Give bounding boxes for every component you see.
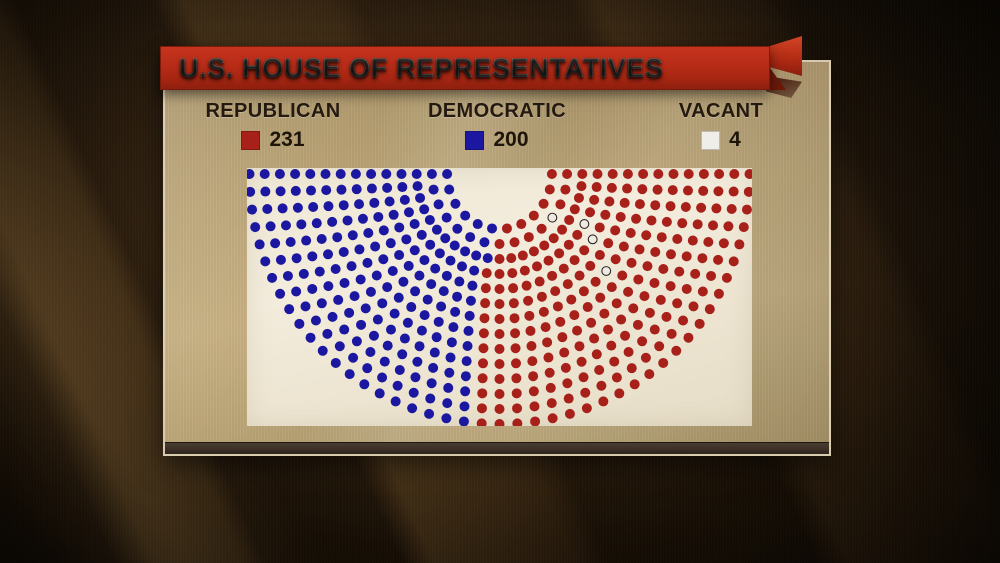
seat-dot-republican xyxy=(479,328,489,338)
seat-dot-republican xyxy=(650,247,660,257)
seat-dot-republican xyxy=(550,286,560,296)
seat-dot-republican xyxy=(549,233,559,243)
seat-dot-democratic xyxy=(260,169,270,179)
seat-dot-republican xyxy=(653,169,663,179)
seat-dot-republican xyxy=(661,312,671,322)
seat-dot-democratic xyxy=(473,219,483,229)
seat-dot-vacant xyxy=(580,220,589,229)
seat-dot-republican xyxy=(574,341,584,351)
seat-dot-republican xyxy=(516,219,526,229)
seat-dot-democratic xyxy=(286,237,296,247)
seat-dot-democratic xyxy=(460,246,470,256)
seat-dot-democratic xyxy=(439,286,449,296)
seat-dot-democratic xyxy=(410,219,420,229)
seat-dot-republican xyxy=(495,284,505,294)
seat-dot-republican xyxy=(696,203,706,213)
seat-dot-republican xyxy=(565,409,575,419)
seat-dot-democratic xyxy=(247,205,257,215)
seat-dot-republican xyxy=(742,205,752,215)
seat-dot-republican xyxy=(620,198,630,208)
seat-dot-democratic xyxy=(403,318,413,328)
seat-dot-republican xyxy=(478,343,488,353)
seat-dot-democratic xyxy=(434,199,444,209)
seat-dot-democratic xyxy=(389,210,399,220)
seat-dot-democratic xyxy=(463,341,473,351)
seat-dot-democratic xyxy=(465,232,475,242)
seat-dot-democratic xyxy=(352,336,362,346)
seat-dot-democratic xyxy=(276,255,286,265)
seat-dot-democratic xyxy=(345,369,355,379)
seat-dot-republican xyxy=(598,396,608,406)
seat-dot-democratic xyxy=(318,346,328,356)
seat-dot-republican xyxy=(530,401,540,411)
seat-dot-republican xyxy=(633,320,643,330)
seat-dot-democratic xyxy=(327,217,337,227)
seat-dot-republican xyxy=(603,238,613,248)
seat-dot-democratic xyxy=(335,341,345,351)
seat-dot-republican xyxy=(593,169,603,179)
seat-dot-republican xyxy=(617,271,627,281)
seat-dot-republican xyxy=(511,373,521,383)
seat-dot-republican xyxy=(610,225,620,235)
seat-dot-republican xyxy=(628,303,638,313)
seat-dot-democratic xyxy=(296,219,306,229)
seat-dot-democratic xyxy=(307,284,317,294)
seat-dot-democratic xyxy=(377,373,387,383)
seat-dot-republican xyxy=(532,261,542,271)
seat-dot-republican xyxy=(607,183,617,193)
seat-dot-republican xyxy=(612,298,622,308)
seat-dot-republican xyxy=(520,266,530,276)
seat-dot-republican xyxy=(682,284,692,294)
seat-dot-republican xyxy=(589,195,599,205)
seat-dot-democratic xyxy=(460,401,470,411)
seat-dot-republican xyxy=(482,268,492,278)
seat-dot-republican xyxy=(729,187,739,197)
seat-dot-republican xyxy=(662,217,672,227)
seat-dot-democratic xyxy=(344,308,354,318)
legend-value-row-republican: 231 xyxy=(180,128,366,152)
seat-dot-democratic xyxy=(404,207,414,217)
seat-dot-republican xyxy=(607,282,617,292)
seat-dot-democratic xyxy=(323,281,333,291)
seat-dot-democratic xyxy=(323,249,333,259)
seat-dot-democratic xyxy=(317,298,327,308)
seat-dot-democratic xyxy=(377,298,387,308)
seat-dot-democratic xyxy=(400,195,410,205)
seat-dot-democratic xyxy=(394,250,404,260)
seat-dot-democratic xyxy=(414,271,424,281)
seat-dot-republican xyxy=(579,372,589,382)
seat-dot-republican xyxy=(545,185,555,195)
seat-dot-democratic xyxy=(366,287,376,297)
seat-dot-republican xyxy=(559,264,569,274)
seat-dot-democratic xyxy=(393,381,403,391)
seat-dot-republican xyxy=(729,169,739,179)
seat-dot-democratic xyxy=(469,266,479,276)
seat-dot-republican xyxy=(644,369,654,379)
seat-dot-republican xyxy=(495,419,505,426)
seat-dot-republican xyxy=(557,332,567,342)
seat-dot-democratic xyxy=(339,325,349,335)
seat-dot-democratic xyxy=(460,211,470,221)
seat-dot-republican xyxy=(699,169,709,179)
seat-chart xyxy=(247,168,752,426)
seat-dot-democratic xyxy=(275,289,285,299)
seat-dot-democratic xyxy=(306,333,316,343)
seat-dot-republican xyxy=(592,182,602,192)
seat-dot-democratic xyxy=(351,169,361,179)
seat-dot-republican xyxy=(654,341,664,351)
seat-dot-republican xyxy=(523,296,533,306)
seat-dot-republican xyxy=(563,279,573,289)
seat-dot-democratic xyxy=(250,222,260,232)
seat-dot-republican xyxy=(658,264,668,274)
seat-dot-democratic xyxy=(425,215,435,225)
seat-dot-democratic xyxy=(397,182,407,192)
seat-dot-democratic xyxy=(375,388,385,398)
seat-dot-democratic xyxy=(363,228,373,238)
seat-dot-democratic xyxy=(436,301,446,311)
seat-dot-democratic xyxy=(429,185,439,195)
seat-dot-republican xyxy=(595,222,605,232)
seat-dot-republican xyxy=(512,418,522,426)
seat-dot-democratic xyxy=(321,169,331,179)
seat-dot-republican xyxy=(495,239,505,249)
legend-count-republican: 231 xyxy=(269,128,304,152)
seat-dot-republican xyxy=(512,403,522,413)
seat-dot-republican xyxy=(656,295,666,305)
seat-dot-democratic xyxy=(348,353,358,363)
seat-dot-republican xyxy=(553,301,563,311)
seat-dot-republican xyxy=(502,223,512,233)
seat-dot-republican xyxy=(624,347,634,357)
seat-dot-democratic xyxy=(317,234,327,244)
seat-dot-democratic xyxy=(247,187,255,197)
seat-dot-republican xyxy=(606,341,616,351)
seat-dot-democratic xyxy=(366,169,376,179)
legend: REPUBLICAN 231 DEMOCRATIC 200 VACANT 4 xyxy=(163,100,831,152)
seat-dot-republican xyxy=(609,357,619,367)
seat-dot-republican xyxy=(653,185,663,195)
seat-dot-republican xyxy=(592,349,602,359)
seat-dot-republican xyxy=(575,271,585,281)
seat-dot-democratic xyxy=(369,198,379,208)
seat-dot-republican xyxy=(666,249,676,259)
seat-dot-republican xyxy=(527,356,537,366)
seat-dot-democratic xyxy=(343,215,353,225)
seat-dot-democratic xyxy=(410,286,420,296)
seat-dot-democratic xyxy=(315,267,325,277)
seat-dot-democratic xyxy=(462,356,472,366)
seat-dot-republican xyxy=(635,199,645,209)
seat-dot-republican xyxy=(603,325,613,335)
seat-dot-democratic xyxy=(347,261,357,271)
seat-dot-democratic xyxy=(255,239,265,249)
seat-dot-democratic xyxy=(388,266,398,276)
seat-dot-republican xyxy=(511,343,521,353)
seat-dot-democratic xyxy=(419,204,429,214)
legend-label-vacant: VACANT xyxy=(628,100,814,123)
seat-dot-democratic xyxy=(460,386,470,396)
seat-dot-republican xyxy=(596,381,606,391)
seat-dot-republican xyxy=(668,185,678,195)
seat-dot-democratic xyxy=(339,200,349,210)
seat-dot-democratic xyxy=(293,203,303,213)
seat-dot-republican xyxy=(495,254,505,264)
broadcast-graphic: U.S. HOUSE OF REPRESENTATIVES REPUBLICAN… xyxy=(0,0,1000,563)
seat-dot-republican xyxy=(727,204,737,214)
seat-dot-republican xyxy=(511,358,521,368)
seat-dot-democratic xyxy=(306,186,316,196)
seat-dot-democratic xyxy=(457,261,467,271)
seat-dot-republican xyxy=(616,315,626,325)
seat-dot-republican xyxy=(529,246,539,256)
seat-dot-republican xyxy=(630,379,640,389)
seat-dot-democratic xyxy=(407,403,417,413)
seat-dot-democratic xyxy=(383,341,393,351)
seat-dot-democratic xyxy=(382,183,392,193)
seat-dot-republican xyxy=(572,230,582,240)
seat-dot-republican xyxy=(535,277,545,287)
seat-dot-republican xyxy=(633,274,643,284)
seat-dot-republican xyxy=(666,201,676,211)
seat-dot-democratic xyxy=(410,372,420,382)
seat-dot-democratic xyxy=(278,203,288,213)
seat-dot-democratic xyxy=(391,396,401,406)
seat-dot-democratic xyxy=(413,181,423,191)
seat-dot-democratic xyxy=(386,238,396,248)
seat-dot-republican xyxy=(477,388,487,398)
seat-dot-democratic xyxy=(395,365,405,375)
title-banner-body: U.S. HOUSE OF REPRESENTATIVES xyxy=(160,46,770,90)
seat-dot-democratic xyxy=(323,201,333,211)
seat-dot-democratic xyxy=(356,274,366,284)
seat-dot-democratic xyxy=(420,310,430,320)
seat-dot-republican xyxy=(510,328,520,338)
seat-dot-democratic xyxy=(361,303,371,313)
seat-dot-republican xyxy=(585,261,595,271)
seat-dot-democratic xyxy=(365,347,375,357)
seat-dot-democratic xyxy=(424,409,434,419)
seat-dot-democratic xyxy=(359,379,369,389)
seat-dot-democratic xyxy=(350,291,360,301)
seat-dot-democratic xyxy=(270,238,280,248)
seat-dot-democratic xyxy=(467,281,477,291)
seat-dot-republican xyxy=(562,169,572,179)
seat-dot-democratic xyxy=(406,302,416,312)
seat-dot-republican xyxy=(595,250,605,260)
seat-dot-republican xyxy=(667,329,677,339)
seat-dot-republican xyxy=(564,394,574,404)
seat-dot-democratic xyxy=(379,225,389,235)
seat-dot-republican xyxy=(539,307,549,317)
seat-dot-democratic xyxy=(247,169,255,179)
seat-dot-republican xyxy=(611,254,621,264)
seat-dot-republican xyxy=(713,255,723,265)
seat-dot-democratic xyxy=(308,202,318,212)
seat-dot-democratic xyxy=(444,185,454,195)
seat-dot-democratic xyxy=(401,234,411,244)
seat-dot-democratic xyxy=(430,264,440,274)
seat-dot-republican xyxy=(642,261,652,271)
seat-dot-democratic xyxy=(447,337,457,347)
seat-dot-democratic xyxy=(440,233,450,243)
legend-item-vacant: VACANT 4 xyxy=(628,100,814,152)
seat-dot-democratic xyxy=(417,230,427,240)
seat-dot-democratic xyxy=(291,287,301,297)
seat-dot-democratic xyxy=(432,225,442,235)
seat-dot-republican xyxy=(690,269,700,279)
seat-dot-democratic xyxy=(425,394,435,404)
seat-dot-democratic xyxy=(260,256,270,266)
seat-dot-democratic xyxy=(428,363,438,373)
seat-dot-democratic xyxy=(412,357,422,367)
seat-dot-democratic xyxy=(461,371,471,381)
seat-dot-democratic xyxy=(415,341,425,351)
seat-dot-democratic xyxy=(301,301,311,311)
seat-dot-democratic xyxy=(378,254,388,264)
seat-dot-republican xyxy=(495,299,505,309)
seat-dot-republican xyxy=(555,199,565,209)
seat-dot-democratic xyxy=(281,220,291,230)
seat-dot-republican xyxy=(637,336,647,346)
seat-dot-democratic xyxy=(448,322,458,332)
seat-dot-democratic xyxy=(434,317,444,327)
seat-dot-democratic xyxy=(299,269,309,279)
seat-dot-republican xyxy=(623,169,633,179)
seat-dot-democratic xyxy=(423,295,433,305)
seat-dot-republican xyxy=(658,358,668,368)
seat-dot-republican xyxy=(554,248,564,258)
seat-dot-democratic xyxy=(442,169,452,179)
seat-dot-democratic xyxy=(394,222,404,232)
seat-dot-republican xyxy=(564,215,574,225)
seat-dot-republican xyxy=(594,365,604,375)
seat-dot-democratic xyxy=(385,197,395,207)
seat-dot-democratic xyxy=(427,378,437,388)
seat-dot-republican xyxy=(703,237,713,247)
seat-dot-republican xyxy=(547,271,557,281)
seat-dot-republican xyxy=(530,416,540,426)
seat-dot-democratic xyxy=(370,242,380,252)
seat-dot-republican xyxy=(570,204,580,214)
seat-dot-republican xyxy=(507,268,517,278)
seat-dot-republican xyxy=(579,245,589,255)
seat-dot-republican xyxy=(608,169,618,179)
seat-dot-democratic xyxy=(275,169,285,179)
seat-dot-democratic xyxy=(464,326,474,336)
seat-dot-republican xyxy=(649,278,659,288)
seat-dot-democratic xyxy=(471,251,481,261)
seat-dot-democratic xyxy=(459,416,469,426)
seat-dot-republican xyxy=(689,301,699,311)
seat-dot-democratic xyxy=(487,223,497,233)
seat-dot-democratic xyxy=(398,277,408,287)
seat-dot-republican xyxy=(729,256,739,266)
seat-dot-republican xyxy=(529,386,539,396)
seat-dot-democratic xyxy=(382,282,392,292)
seat-dot-republican xyxy=(646,215,656,225)
seat-dot-republican xyxy=(481,283,491,293)
seat-dot-republican xyxy=(495,344,505,354)
page-title: U.S. HOUSE OF REPRESENTATIVES xyxy=(179,53,663,84)
seat-dot-democratic xyxy=(465,311,475,321)
seat-dot-republican xyxy=(577,169,587,179)
seat-dot-democratic xyxy=(400,334,410,344)
seat-dot-republican xyxy=(745,169,753,179)
seat-dot-republican xyxy=(582,403,592,413)
seat-dot-democratic xyxy=(276,186,286,196)
seat-dot-democratic xyxy=(397,169,407,179)
seat-dot-republican xyxy=(579,286,589,296)
seat-dot-republican xyxy=(548,413,558,423)
democratic-swatch-icon xyxy=(465,131,484,150)
seat-dot-vacant xyxy=(602,267,611,276)
seat-dot-democratic xyxy=(336,185,346,195)
seat-dot-republican xyxy=(711,203,721,213)
seat-dot-republican xyxy=(539,241,549,251)
seat-dot-republican xyxy=(591,277,601,287)
seat-dot-republican xyxy=(626,228,636,238)
seat-dot-democratic xyxy=(362,258,372,268)
legend-count-democratic: 200 xyxy=(493,128,528,152)
seat-dot-democratic xyxy=(372,271,382,281)
seat-dot-republican xyxy=(546,383,556,393)
seat-dot-republican xyxy=(705,304,715,314)
seat-dot-republican xyxy=(539,199,549,209)
seat-dot-republican xyxy=(706,271,716,281)
seat-dot-democratic xyxy=(442,213,452,223)
seat-dot-republican xyxy=(595,293,605,303)
seat-dot-republican xyxy=(586,318,596,328)
seat-dot-republican xyxy=(537,292,547,302)
seat-dot-democratic xyxy=(373,315,383,325)
seat-dot-republican xyxy=(547,169,557,179)
seat-dot-democratic xyxy=(415,193,425,203)
seat-dot-democratic xyxy=(452,224,462,234)
seat-dot-republican xyxy=(585,207,595,217)
seat-dot-republican xyxy=(495,269,505,279)
seat-dot-republican xyxy=(734,239,744,249)
seat-dot-republican xyxy=(672,298,682,308)
seat-dot-vacant xyxy=(548,213,557,222)
seat-dot-republican xyxy=(638,169,648,179)
seat-dot-democratic xyxy=(412,169,422,179)
seat-dot-republican xyxy=(682,251,692,261)
seat-dot-republican xyxy=(683,186,693,196)
seat-dot-republican xyxy=(518,251,528,261)
seat-dot-republican xyxy=(529,211,539,221)
seat-dot-republican xyxy=(683,333,693,343)
seat-dot-republican xyxy=(739,222,749,232)
seat-dot-republican xyxy=(569,310,579,320)
seat-dot-democratic xyxy=(267,273,277,283)
seat-dot-democratic xyxy=(435,248,445,258)
seat-dot-democratic xyxy=(479,237,489,247)
seat-dot-republican xyxy=(566,295,576,305)
seat-dot-republican xyxy=(524,232,534,242)
title-banner: U.S. HOUSE OF REPRESENTATIVES xyxy=(160,46,770,90)
seat-dot-republican xyxy=(599,309,609,319)
seat-dot-republican xyxy=(580,388,590,398)
seat-dot-republican xyxy=(695,319,705,329)
seat-dot-republican xyxy=(622,184,632,194)
republican-swatch-icon xyxy=(241,131,260,150)
seat-dot-democratic xyxy=(390,309,400,319)
seat-dot-republican xyxy=(537,224,547,234)
seat-dot-republican xyxy=(495,404,505,414)
